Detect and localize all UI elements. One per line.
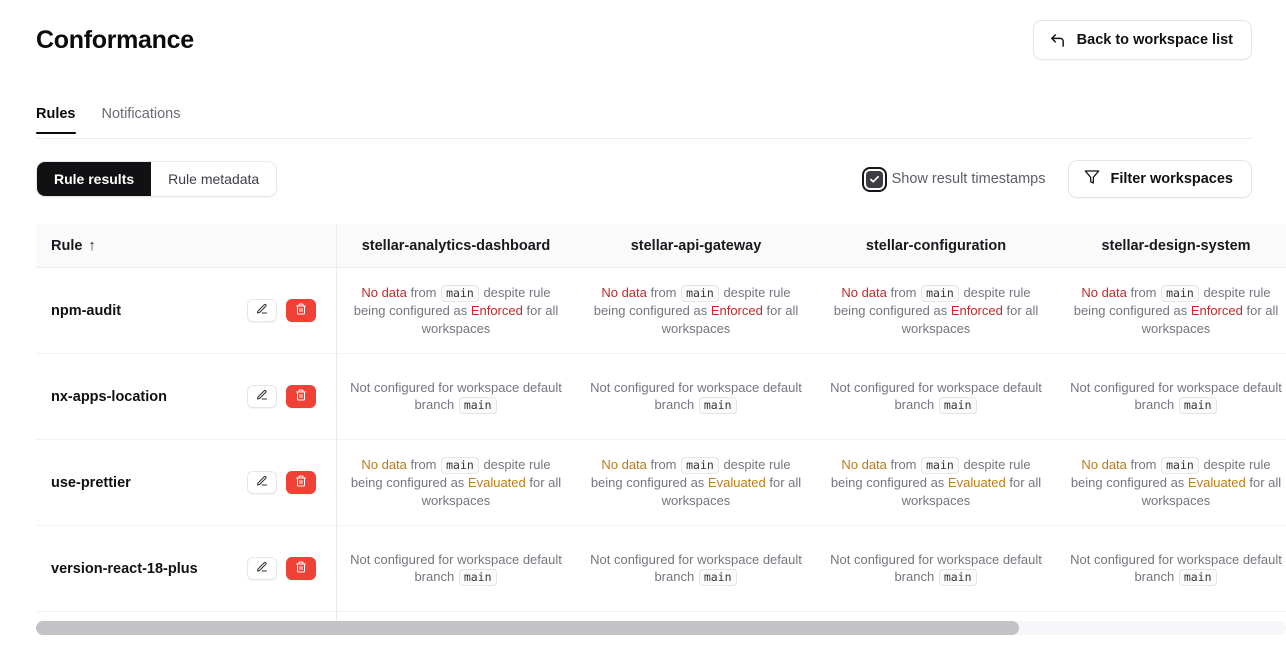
result-severity-text: Enforced <box>711 303 763 318</box>
branch-chip: main <box>921 457 959 474</box>
bottom-strip <box>0 637 1286 667</box>
pencil-edit-icon <box>256 561 268 576</box>
trash-delete-icon <box>295 561 307 576</box>
result-text: No data from main despite rule being con… <box>1070 456 1282 509</box>
table-row-result-cell: No data from main despite rule being con… <box>1056 268 1286 354</box>
table-row-result-cell: Not configured for workspace default bra… <box>1056 354 1286 440</box>
branch-chip: main <box>939 397 977 414</box>
back-button-label: Back to workspace list <box>1077 32 1233 48</box>
delete-rule-button[interactable] <box>286 299 316 322</box>
sticky-column-divider <box>336 224 337 621</box>
result-status-text: No data <box>601 457 647 472</box>
main-tabs: Rules Notifications <box>36 106 1252 139</box>
trash-delete-icon <box>295 475 307 490</box>
table-row-result-cell: No data from main despite rule being con… <box>336 440 576 526</box>
rules-results-table: Rule ↑ stellar-analytics-dashboard stell… <box>36 224 1286 612</box>
conformance-page: Conformance Back to workspace list Rules… <box>0 0 1286 667</box>
table-row-result-cell: No data from main despite rule being con… <box>336 268 576 354</box>
delete-rule-button[interactable] <box>286 471 316 494</box>
table-row-result-cell: No data from main despite rule being con… <box>1056 440 1286 526</box>
table-toolbar: Rule results Rule metadata Show result t… <box>36 161 1252 197</box>
segment-rule-results[interactable]: Rule results <box>37 162 151 196</box>
show-result-timestamps-control[interactable]: Show result timestamps <box>866 171 1046 188</box>
column-header-workspace[interactable]: stellar-api-gateway <box>576 224 816 268</box>
row-actions <box>247 557 316 580</box>
arrow-corner-up-left-icon <box>1049 32 1066 49</box>
horizontal-scrollbar-track[interactable] <box>36 621 1286 635</box>
result-status-text: No data <box>601 285 647 300</box>
table-row-rule-cell: nx-apps-location <box>36 354 336 440</box>
branch-chip: main <box>939 569 977 586</box>
row-actions <box>247 299 316 322</box>
rule-name: npm-audit <box>51 303 121 319</box>
table-row-result-cell: Not configured for workspace default bra… <box>816 354 1056 440</box>
result-severity-text: Enforced <box>471 303 523 318</box>
column-header-rule[interactable]: Rule ↑ <box>36 224 336 268</box>
result-text: Not configured for workspace default bra… <box>1070 551 1282 586</box>
result-status-text: No data <box>1081 285 1127 300</box>
table-row-rule-cell: npm-audit <box>36 268 336 354</box>
filter-workspaces-label: Filter workspaces <box>1111 171 1234 187</box>
view-segmented-control: Rule results Rule metadata <box>36 161 277 197</box>
table-row-result-cell: Not configured for workspace default bra… <box>336 526 576 612</box>
result-text: No data from main despite rule being con… <box>1070 284 1282 337</box>
tab-notifications[interactable]: Notifications <box>102 106 181 133</box>
result-text: No data from main despite rule being con… <box>830 284 1042 337</box>
result-severity-text: Evaluated <box>468 475 526 490</box>
branch-chip: main <box>1161 285 1199 302</box>
edit-rule-button[interactable] <box>247 299 277 322</box>
result-severity-text: Evaluated <box>948 475 1006 490</box>
delete-rule-button[interactable] <box>286 557 316 580</box>
result-text: No data from main despite rule being con… <box>350 456 562 509</box>
pencil-edit-icon <box>256 303 268 318</box>
branch-chip: main <box>921 285 959 302</box>
result-status-text: No data <box>361 285 407 300</box>
page-header: Conformance Back to workspace list <box>0 0 1286 80</box>
table-row-result-cell: Not configured for workspace default bra… <box>576 526 816 612</box>
result-text: Not configured for workspace default bra… <box>830 379 1042 414</box>
rule-name: version-react-18-plus <box>51 561 198 577</box>
show-result-timestamps-label: Show result timestamps <box>892 171 1046 187</box>
horizontal-scrollbar-thumb[interactable] <box>36 621 1019 635</box>
result-severity-text: Enforced <box>1191 303 1243 318</box>
branch-chip: main <box>441 285 479 302</box>
funnel-filter-icon <box>1084 169 1100 189</box>
table-row-rule-cell: version-react-18-plus <box>36 526 336 612</box>
show-result-timestamps-checkbox[interactable] <box>866 171 883 188</box>
rule-name: use-prettier <box>51 475 131 491</box>
result-text: No data from main despite rule being con… <box>590 456 802 509</box>
row-actions <box>247 385 316 408</box>
branch-chip: main <box>459 397 497 414</box>
table-row-result-cell: Not configured for workspace default bra… <box>336 354 576 440</box>
result-text: Not configured for workspace default bra… <box>350 379 562 414</box>
branch-chip: main <box>699 569 737 586</box>
table-row-rule-cell: use-prettier <box>36 440 336 526</box>
branch-chip: main <box>1179 397 1217 414</box>
rule-name: nx-apps-location <box>51 389 167 405</box>
result-severity-text: Evaluated <box>1188 475 1246 490</box>
table-row-result-cell: No data from main despite rule being con… <box>816 268 1056 354</box>
result-text: Not configured for workspace default bra… <box>830 551 1042 586</box>
toolbar-right-group: Show result timestamps Filter workspaces <box>866 160 1252 198</box>
trash-delete-icon <box>295 389 307 404</box>
table-row-result-cell: Not configured for workspace default bra… <box>816 526 1056 612</box>
filter-workspaces-button[interactable]: Filter workspaces <box>1068 160 1253 198</box>
edit-rule-button[interactable] <box>247 557 277 580</box>
table-row-result-cell: No data from main despite rule being con… <box>576 268 816 354</box>
table-row-result-cell: Not configured for workspace default bra… <box>576 354 816 440</box>
result-status-text: No data <box>361 457 407 472</box>
result-text: Not configured for workspace default bra… <box>350 551 562 586</box>
column-header-rule-label: Rule <box>51 238 82 254</box>
result-severity-text: Enforced <box>951 303 1003 318</box>
column-header-workspace[interactable]: stellar-configuration <box>816 224 1056 268</box>
result-text: No data from main despite rule being con… <box>830 456 1042 509</box>
branch-chip: main <box>699 397 737 414</box>
back-to-workspace-list-button[interactable]: Back to workspace list <box>1033 20 1252 60</box>
result-text: Not configured for workspace default bra… <box>590 551 802 586</box>
column-header-workspace[interactable]: stellar-design-system <box>1056 224 1286 268</box>
rules-results-table-region[interactable]: Rule ↑ stellar-analytics-dashboard stell… <box>36 224 1286 621</box>
edit-rule-button[interactable] <box>247 385 277 408</box>
table-row-result-cell: No data from main despite rule being con… <box>816 440 1056 526</box>
result-text: No data from main despite rule being con… <box>350 284 562 337</box>
delete-rule-button[interactable] <box>286 385 316 408</box>
result-status-text: No data <box>841 457 887 472</box>
pencil-edit-icon <box>256 475 268 490</box>
page-title: Conformance <box>36 28 194 53</box>
result-status-text: No data <box>841 285 887 300</box>
row-actions <box>247 471 316 494</box>
result-severity-text: Evaluated <box>708 475 766 490</box>
table-row-result-cell: No data from main despite rule being con… <box>576 440 816 526</box>
branch-chip: main <box>1179 569 1217 586</box>
branch-chip: main <box>681 457 719 474</box>
result-text: Not configured for workspace default bra… <box>590 379 802 414</box>
result-text: Not configured for workspace default bra… <box>1070 379 1282 414</box>
pencil-edit-icon <box>256 389 268 404</box>
edit-rule-button[interactable] <box>247 471 277 494</box>
branch-chip: main <box>1161 457 1199 474</box>
result-status-text: No data <box>1081 457 1127 472</box>
column-header-workspace[interactable]: stellar-analytics-dashboard <box>336 224 576 268</box>
tab-rules[interactable]: Rules <box>36 106 76 133</box>
segment-rule-metadata[interactable]: Rule metadata <box>151 162 276 196</box>
branch-chip: main <box>681 285 719 302</box>
table-row-result-cell: Not configured for workspace default bra… <box>1056 526 1286 612</box>
branch-chip: main <box>459 569 497 586</box>
result-text: No data from main despite rule being con… <box>590 284 802 337</box>
trash-delete-icon <box>295 303 307 318</box>
branch-chip: main <box>441 457 479 474</box>
sort-ascending-icon: ↑ <box>88 238 95 254</box>
